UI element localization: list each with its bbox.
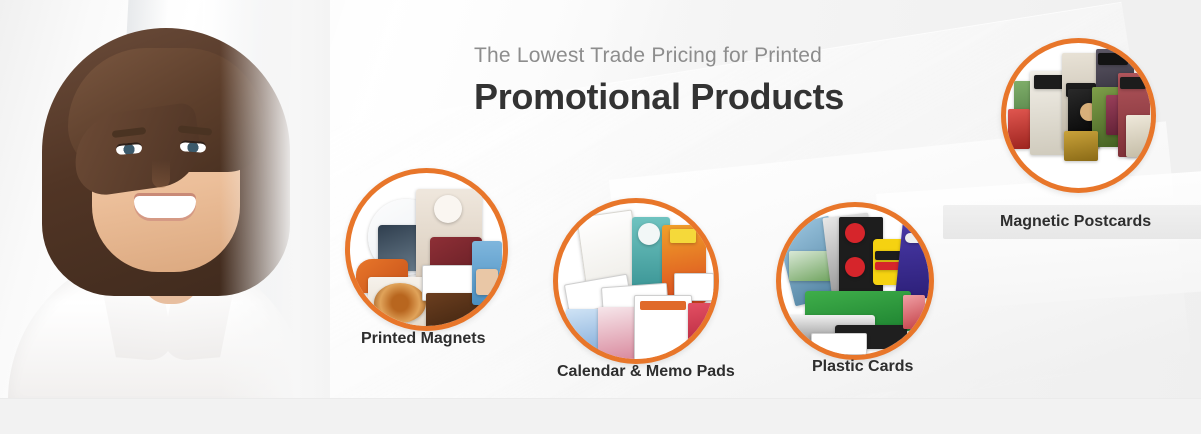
page-title: Promotional Products [474, 76, 844, 118]
product-label-magnetic-postcards: Magnetic Postcards [1000, 213, 1151, 231]
promotional-products-banner: The Lowest Trade Pricing for Printed Pro… [0, 0, 1201, 434]
product-collage-calendar-memo-pads [558, 203, 714, 359]
product-circle-calendar-memo-pads[interactable] [553, 198, 719, 364]
headline-block: The Lowest Trade Pricing for Printed Pro… [474, 44, 844, 118]
product-collage-magnetic-postcards [1006, 43, 1151, 188]
product-circle-printed-magnets[interactable] [345, 168, 508, 331]
hero-photo-woman [0, 0, 330, 400]
bottom-separator-band [0, 398, 1201, 434]
hero-photo-fade [220, 0, 330, 400]
product-collage-printed-magnets [350, 173, 503, 326]
headline-subtitle: The Lowest Trade Pricing for Printed [474, 44, 844, 68]
product-collage-plastic-cards [781, 207, 929, 355]
product-label-printed-magnets: Printed Magnets [361, 330, 485, 348]
product-calendar-memo-pads[interactable]: Calendar & Memo Pads [553, 198, 719, 364]
product-magnetic-postcards[interactable]: Magnetic Postcards [1001, 38, 1156, 193]
product-circle-plastic-cards[interactable] [776, 202, 934, 360]
product-label-calendar-memo-pads: Calendar & Memo Pads [557, 363, 735, 381]
product-label-plastic-cards: Plastic Cards [812, 358, 913, 376]
product-circle-magnetic-postcards[interactable] [1001, 38, 1156, 193]
product-plastic-cards[interactable]: Plastic Cards [776, 202, 934, 360]
product-printed-magnets[interactable]: Printed Magnets [345, 168, 508, 331]
